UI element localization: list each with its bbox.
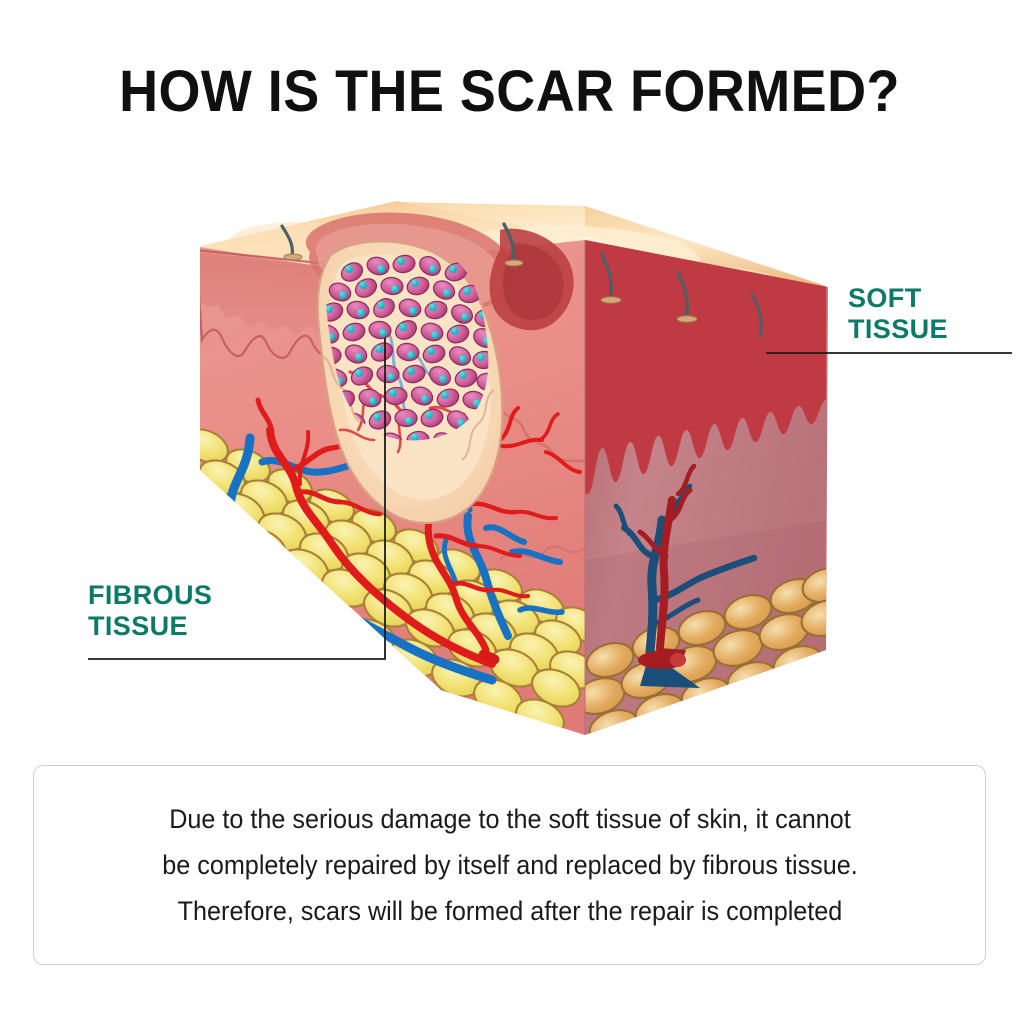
callout-label-fibrous-tissue: FIBROUS TISSUE <box>88 580 212 642</box>
callout-label-soft-tissue: SOFT TISSUE <box>848 283 948 345</box>
caption-text: Due to the serious damage to the soft ti… <box>73 796 947 934</box>
infographic-page: HOW IS THE SCAR FORMED? <box>0 0 1019 1019</box>
caption-box: Due to the serious damage to the soft ti… <box>33 765 986 965</box>
